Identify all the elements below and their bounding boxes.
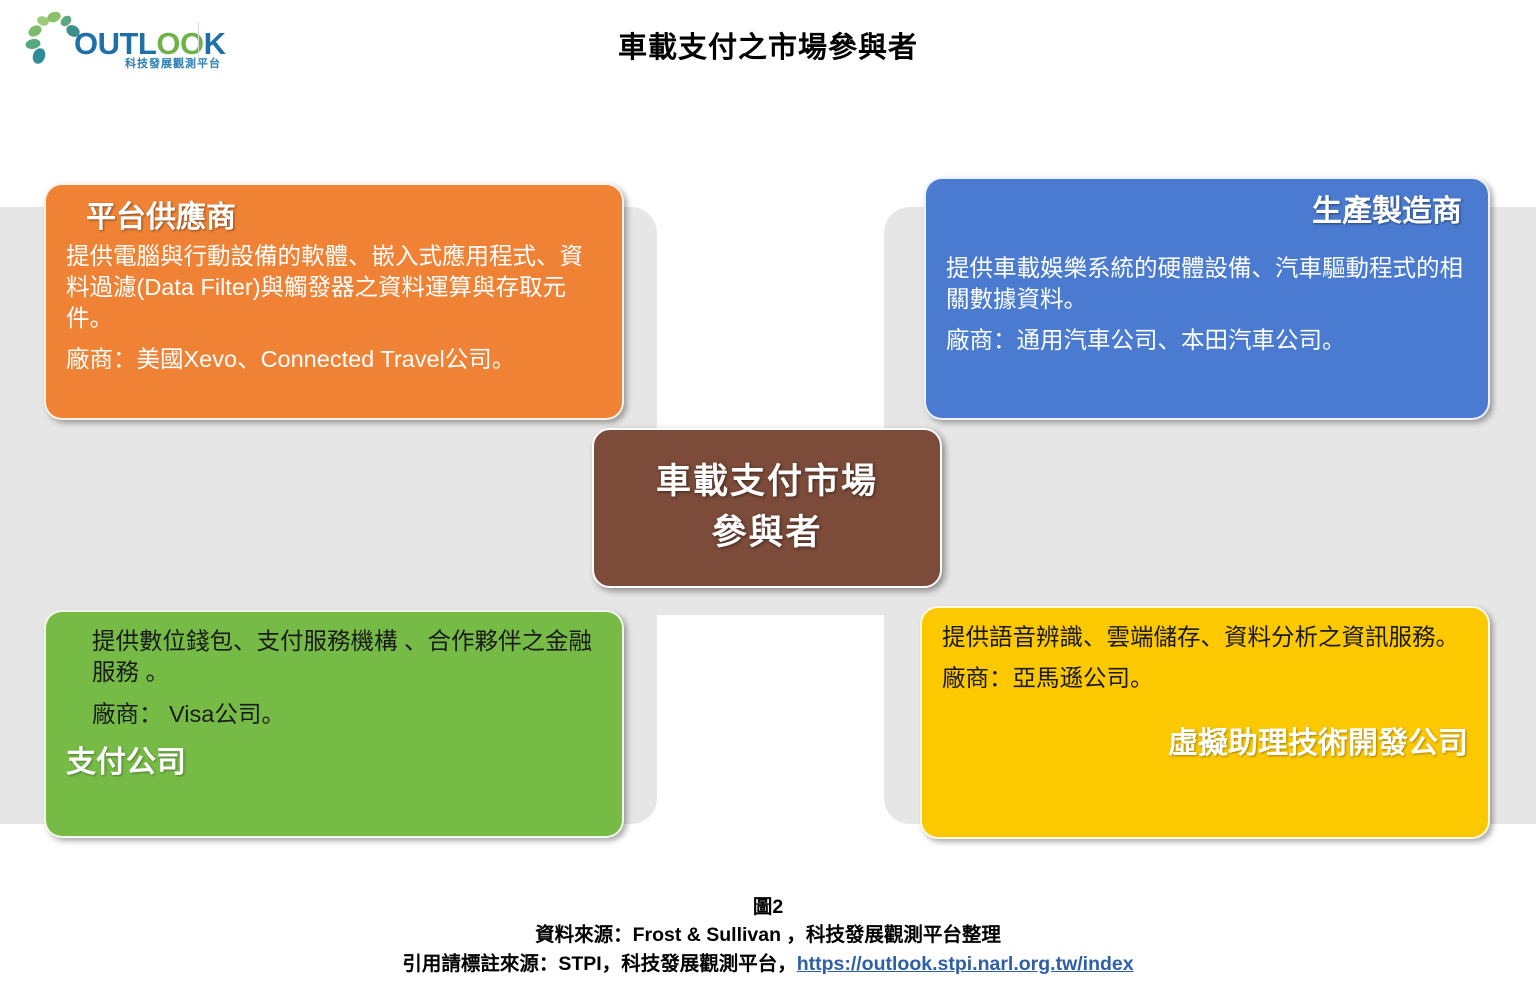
figure-citation: 引用請標註來源：STPI，科技發展觀測平台，https://outlook.st… — [0, 950, 1536, 978]
card-manufacturer-body: 提供車載娛樂系統的硬體設備、汽車驅動程式的相關數據資料。 — [946, 253, 1468, 316]
card-assistant-title: 虛擬助理技術開發公司 — [942, 725, 1468, 763]
card-assistant-vendor: 廠商：亞馬遜公司。 — [942, 663, 1468, 694]
page-title: 車載支付之市場參與者 — [0, 24, 1536, 66]
citation-prefix: 引用請標註來源：STPI，科技發展觀測平台， — [402, 953, 796, 975]
figure-source: 資料來源：Frost & Sullivan ，科技發展觀測平台整理 — [0, 921, 1536, 949]
card-payment-title: 支付公司 — [66, 744, 602, 782]
center-hub[interactable]: 車載支付市場 參與者 — [592, 428, 942, 588]
card-payment-company[interactable]: 提供數位錢包、支付服務機構 、合作夥伴之金融服務 。 廠商： Visa公司。 支… — [44, 610, 624, 838]
backdrop-notch-bottom — [657, 632, 884, 892]
citation-link[interactable]: https://outlook.stpi.narl.org.tw/index — [797, 953, 1134, 975]
card-manufacturer-vendor: 廠商：通用汽車公司、本田汽車公司。 — [946, 325, 1468, 356]
center-hub-line-2: 參與者 — [711, 508, 822, 559]
figure-number: 圖2 — [0, 893, 1536, 921]
figure-footer: 圖2 資料來源：Frost & Sullivan ，科技發展觀測平台整理 引用請… — [0, 893, 1536, 978]
card-platform-vendor: 廠商：美國Xevo、Connected Travel公司。 — [66, 344, 602, 375]
card-manufacturer-title: 生產製造商 — [946, 193, 1468, 231]
backdrop-notch-top — [657, 160, 884, 435]
card-platform-supplier[interactable]: 平台供應商 提供電腦與行動設備的軟體、嵌入式應用程式、資料過濾(Data Fil… — [44, 183, 624, 420]
card-manufacturer[interactable]: 生產製造商 提供車載娛樂系統的硬體設備、汽車驅動程式的相關數據資料。 廠商：通用… — [924, 177, 1490, 420]
card-platform-body: 提供電腦與行動設備的軟體、嵌入式應用程式、資料過濾(Data Filter)與觸… — [66, 241, 602, 335]
card-assistant-body: 提供語音辨識、雲端儲存、資料分析之資訊服務。 — [942, 622, 1468, 653]
card-payment-vendor: 廠商： Visa公司。 — [66, 699, 602, 730]
card-virtual-assistant[interactable]: 提供語音辨識、雲端儲存、資料分析之資訊服務。 廠商：亞馬遜公司。 虛擬助理技術開… — [920, 606, 1490, 839]
card-payment-body: 提供數位錢包、支付服務機構 、合作夥伴之金融服務 。 — [66, 626, 602, 689]
card-platform-title: 平台供應商 — [66, 199, 602, 237]
center-hub-line-1: 車載支付市場 — [656, 457, 878, 508]
